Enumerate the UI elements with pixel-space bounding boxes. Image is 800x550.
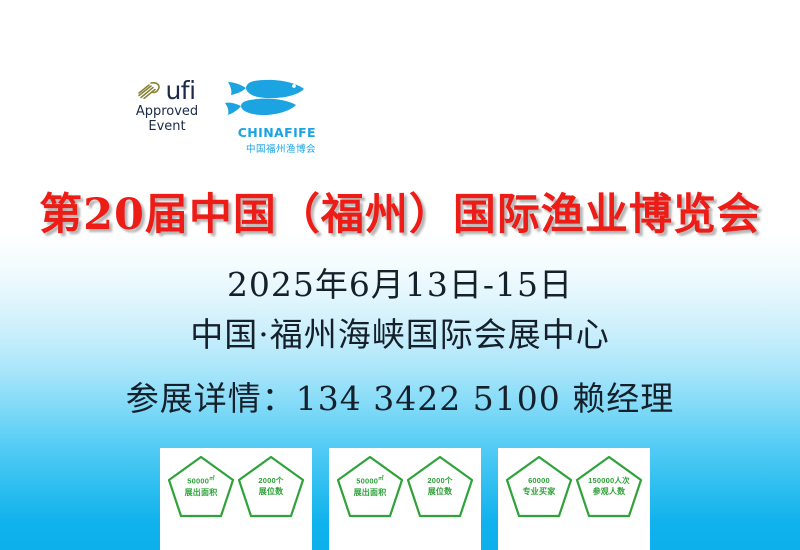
- statistic-value: 2000个: [427, 475, 452, 486]
- ufi-wordmark-row: ufi: [128, 78, 206, 104]
- ufi-approved-label: Approved: [128, 104, 206, 119]
- statistic-value: 50000㎡: [354, 474, 387, 487]
- statistic-label: 展出面积: [354, 487, 387, 498]
- statistic-label: 专业买家: [523, 486, 556, 497]
- statistic-badge: 2000个展位数: [237, 454, 305, 518]
- statistic-value: 50000㎡: [185, 474, 218, 487]
- statistic-badge-text: 2000个展位数: [258, 475, 283, 497]
- statistic-badge-text: 60000专业买家: [523, 475, 556, 497]
- statistics-badge-row: 50000㎡展出面积2000个展位数50000㎡展出面积2000个展位数6000…: [160, 448, 650, 550]
- ufi-wordmark: ufi: [165, 78, 195, 104]
- chinafife-logo: CHINAFIFE 中国福州渔博会: [224, 78, 316, 155]
- statistics-panel: 60000专业买家150000人次参观人数: [498, 448, 650, 550]
- statistic-value: 150000人次: [588, 475, 630, 486]
- statistic-badge: 50000㎡展出面积: [167, 454, 235, 518]
- statistic-badge-text: 2000个展位数: [427, 475, 452, 497]
- event-date: 2025年6月13日-15日: [0, 258, 800, 306]
- statistic-badge: 50000㎡展出面积: [336, 454, 404, 518]
- statistics-panel: 50000㎡展出面积2000个展位数: [160, 448, 312, 550]
- chinafife-chinese-name: 中国福州渔博会: [224, 141, 316, 155]
- statistic-badge-text: 150000人次参观人数: [588, 475, 630, 497]
- statistic-badge: 150000人次参观人数: [575, 454, 643, 518]
- statistic-value: 2000个: [258, 475, 283, 486]
- event-venue: 中国·福州海峡国际会展中心: [0, 308, 800, 356]
- statistics-panel: 50000㎡展出面积2000个展位数: [329, 448, 481, 550]
- statistic-value: 60000: [523, 475, 556, 486]
- statistic-label: 展出面积: [185, 487, 218, 498]
- ufi-event-label: Event: [128, 119, 206, 134]
- statistic-label: 展位数: [258, 486, 283, 497]
- chinafife-english-name: CHINAFIFE: [224, 125, 316, 140]
- exhibition-promo-banner: ufi Approved Event CHINAFIFE 中国福州渔博会: [0, 0, 800, 550]
- ufi-swoosh-icon: [138, 79, 164, 104]
- statistic-badge: 60000专业买家: [505, 454, 573, 518]
- statistic-label: 参观人数: [588, 486, 630, 497]
- statistic-badge-text: 50000㎡展出面积: [354, 474, 387, 498]
- contact-info: 参展详情：134 3422 5100 赖经理: [0, 372, 800, 420]
- ufi-approved-event-logo: ufi Approved Event: [128, 78, 206, 134]
- statistic-label: 展位数: [427, 486, 452, 497]
- logo-row: ufi Approved Event CHINAFIFE 中国福州渔博会: [128, 78, 316, 155]
- fish-icon: [224, 107, 316, 124]
- statistic-badge-text: 50000㎡展出面积: [185, 474, 218, 498]
- event-title: 第20届中国（福州）国际渔业博览会: [0, 180, 800, 242]
- statistic-badge: 2000个展位数: [406, 454, 474, 518]
